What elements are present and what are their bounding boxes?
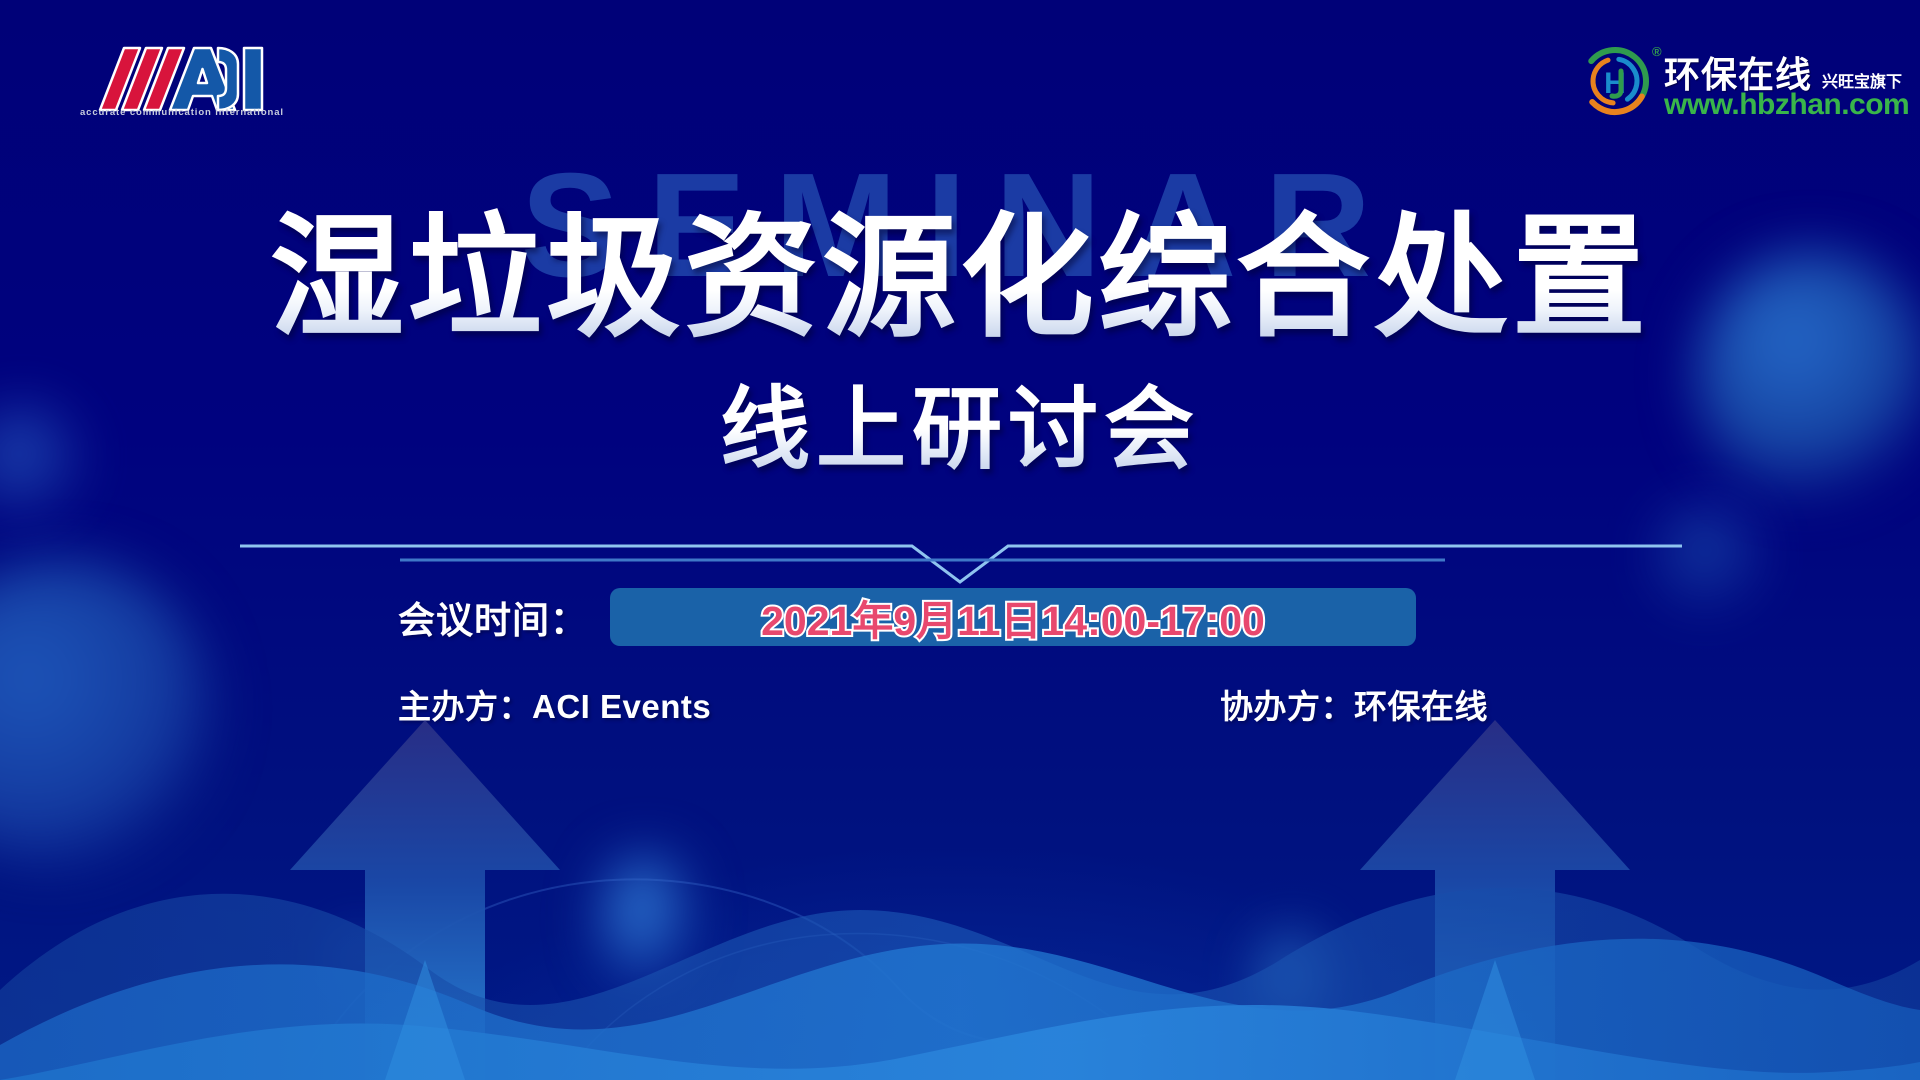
hbzhan-url[interactable]: www.hbzhan.com bbox=[1664, 88, 1909, 122]
registered-trademark-icon: ® bbox=[1652, 44, 1662, 59]
hbzhan-logo[interactable]: H ® 环保在线 兴旺宝旗下 www.hbzhan.com bbox=[1578, 42, 1898, 126]
meeting-time-pill: 2021年9月11日14:00-17:00 bbox=[610, 588, 1416, 646]
page-title: 湿垃圾资源化综合处置 bbox=[0, 208, 1920, 350]
meeting-time-label: 会议时间： bbox=[398, 590, 588, 644]
meeting-time-row: 会议时间： 2021年9月11日14:00-17:00 bbox=[398, 588, 1416, 646]
aci-logo-tagline: accurate communication international bbox=[80, 107, 284, 118]
hbzhan-ring-icon: H bbox=[1578, 44, 1652, 118]
bottom-wave-graphic bbox=[0, 660, 1920, 1080]
meeting-time-value: 2021年9月11日14:00-17:00 bbox=[761, 587, 1265, 647]
hero-title-block: 湿垃圾资源化综合处置 线上研讨会 bbox=[0, 208, 1920, 486]
divider-with-chevron bbox=[0, 524, 1920, 584]
aci-logo[interactable] bbox=[78, 38, 268, 118]
seminar-poster: accurate communication international H ®… bbox=[0, 0, 1920, 1080]
aci-logo-mark bbox=[78, 38, 268, 118]
page-subtitle: 线上研讨会 bbox=[0, 356, 1920, 486]
